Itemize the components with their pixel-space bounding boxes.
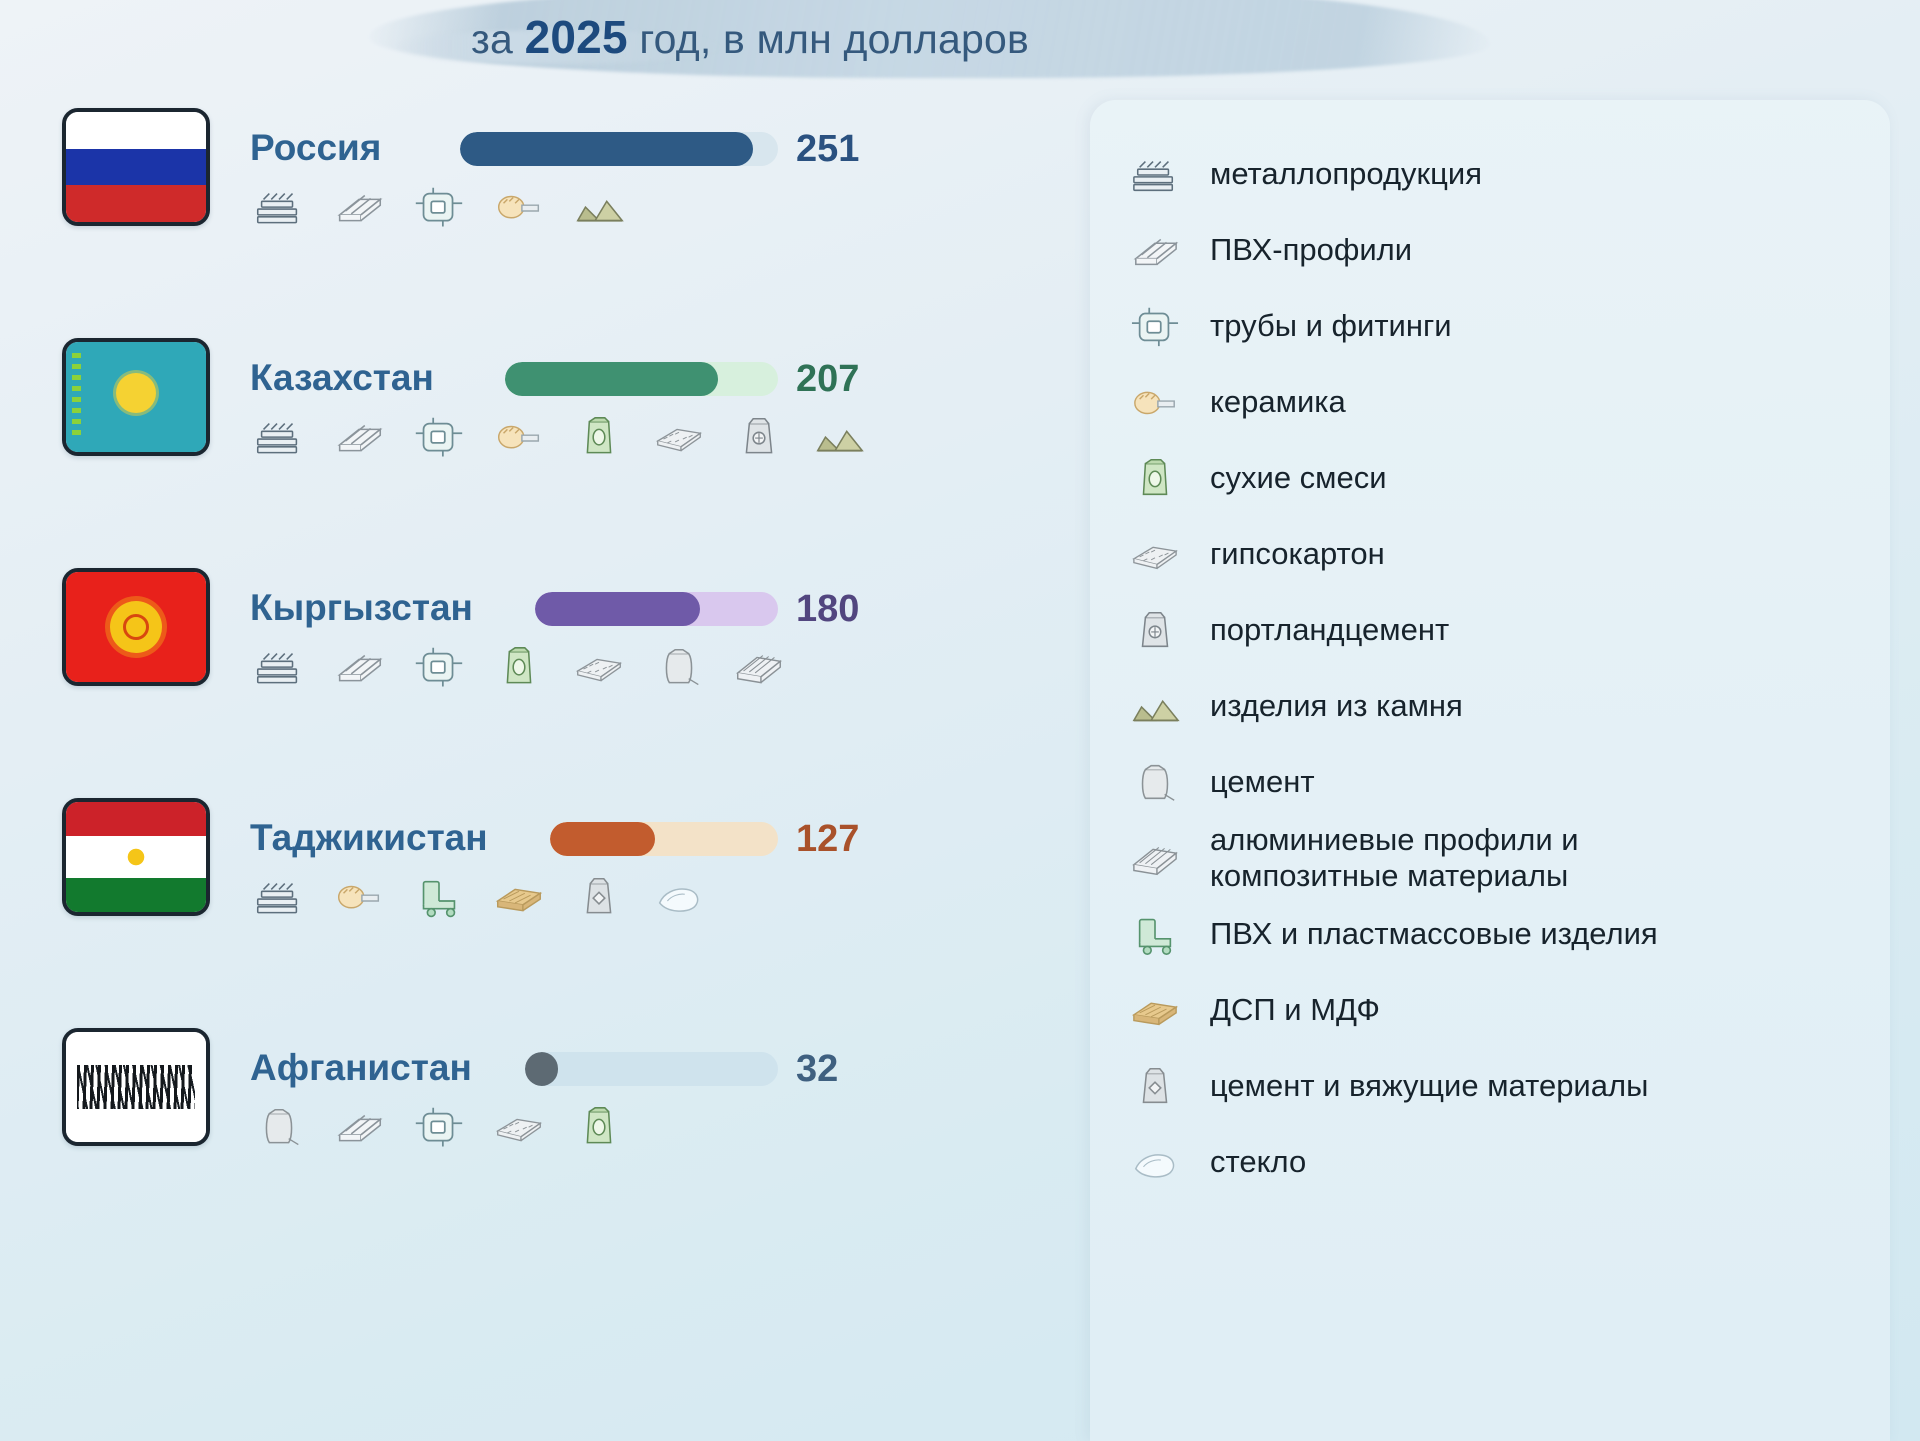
product-icon-strip xyxy=(250,182,628,230)
cement-icon xyxy=(1124,758,1186,806)
bar-fill xyxy=(460,132,753,166)
country-label: Россия xyxy=(250,126,381,170)
legend-item: керамика xyxy=(1124,364,1862,440)
legend-item: цемент и вяжущие материалы xyxy=(1124,1048,1862,1124)
glass-icon xyxy=(1124,1138,1186,1186)
pvc-profile-icon xyxy=(330,642,388,690)
pvc-plastic-icon xyxy=(1124,910,1186,958)
flag-afghanistan xyxy=(62,1028,210,1146)
bar-line: Россия251 xyxy=(250,122,890,178)
legend-item: ДСП и МДФ xyxy=(1124,972,1862,1048)
cement-binders-icon xyxy=(1124,1062,1186,1110)
stone-products-icon xyxy=(810,412,868,460)
country-row: Кыргызстан180 xyxy=(0,560,890,790)
country-label: Таджикистан xyxy=(250,816,488,860)
legend-item: ПВХ-профили xyxy=(1124,212,1862,288)
bar-value: 127 xyxy=(796,812,859,866)
bar-value: 32 xyxy=(796,1042,838,1096)
bar-line: Афганистан32 xyxy=(250,1042,890,1098)
flag-tajikistan xyxy=(62,798,210,916)
bar-fill xyxy=(535,592,700,626)
aluminium-profile-icon xyxy=(1124,834,1186,882)
drywall-icon xyxy=(650,412,708,460)
bar-fill xyxy=(550,822,655,856)
country-row: Таджикистан127 xyxy=(0,790,890,1020)
bar-fill xyxy=(525,1052,558,1086)
cement-binders-icon xyxy=(570,872,628,920)
bar-value: 251 xyxy=(796,122,859,176)
glass-icon xyxy=(650,872,708,920)
drywall-icon xyxy=(570,642,628,690)
product-icon-strip xyxy=(250,412,868,460)
legend-item: сухие смеси xyxy=(1124,440,1862,516)
pvc-plastic-icon xyxy=(410,872,468,920)
pipes-fittings-icon xyxy=(410,182,468,230)
legend-item-label: изделия из камня xyxy=(1210,688,1463,724)
pipes-fittings-icon xyxy=(410,412,468,460)
ceramics-icon xyxy=(490,412,548,460)
legend-item: гипсокартон xyxy=(1124,516,1862,592)
flag-russia xyxy=(62,108,210,226)
legend-item: изделия из камня xyxy=(1124,668,1862,744)
country-label: Кыргызстан xyxy=(250,586,473,630)
dry-mixes-icon xyxy=(570,412,628,460)
flag-kyrgyzstan xyxy=(62,568,210,686)
country-row: Казахстан207 xyxy=(0,330,890,560)
legend-item-label: ДСП и МДФ xyxy=(1210,992,1380,1028)
legend-item: стекло xyxy=(1124,1124,1862,1200)
metal-products-icon xyxy=(250,182,308,230)
bar-track xyxy=(550,822,778,856)
drywall-icon xyxy=(490,1102,548,1150)
bar-fill xyxy=(505,362,718,396)
drywall-icon xyxy=(1124,530,1186,578)
legend-item-label: трубы и фитинги xyxy=(1210,308,1452,344)
ceramics-icon xyxy=(330,872,388,920)
bar-value: 180 xyxy=(796,582,859,636)
country-label: Афганистан xyxy=(250,1046,472,1090)
legend-item-label: гипсокартон xyxy=(1210,536,1385,572)
pipes-fittings-icon xyxy=(410,1102,468,1150)
legend-panel: металлопродукцияПВХ-профилитрубы и фитин… xyxy=(1090,100,1890,1441)
flag-kazakhstan xyxy=(62,338,210,456)
bar-line: Таджикистан127 xyxy=(250,812,890,868)
cement-icon xyxy=(250,1102,308,1150)
chipboard-mdf-icon xyxy=(1124,986,1186,1034)
bar-value: 207 xyxy=(796,352,859,406)
legend-item: ПВХ и пластмассовые изделия xyxy=(1124,896,1862,972)
legend-item-label: цемент xyxy=(1210,764,1315,800)
bar-track xyxy=(460,132,778,166)
bar-track xyxy=(525,1052,778,1086)
legend-item-label: ПВХ и пластмассовые изделия xyxy=(1210,916,1658,952)
bar-line: Кыргызстан180 xyxy=(250,582,890,638)
stone-products-icon xyxy=(570,182,628,230)
legend-item: трубы и фитинги xyxy=(1124,288,1862,364)
legend-item-label: сухие смеси xyxy=(1210,460,1387,496)
ceramics-icon xyxy=(1124,378,1186,426)
country-label: Казахстан xyxy=(250,356,434,400)
aluminium-profile-icon xyxy=(730,642,788,690)
bar-track xyxy=(505,362,778,396)
legend-item: металлопродукция xyxy=(1124,136,1862,212)
legend-item: алюминиевые профили и композитные матери… xyxy=(1124,820,1862,896)
metal-products-icon xyxy=(250,872,308,920)
dry-mixes-icon xyxy=(1124,454,1186,502)
pvc-profile-icon xyxy=(330,412,388,460)
page-title: за 2025 год, в млн долларов xyxy=(0,10,1500,64)
portland-cement-icon xyxy=(1124,606,1186,654)
stone-products-icon xyxy=(1124,682,1186,730)
metal-products-icon xyxy=(250,412,308,460)
bar-line: Казахстан207 xyxy=(250,352,890,408)
pipes-fittings-icon xyxy=(1124,302,1186,350)
legend-item: цемент xyxy=(1124,744,1862,820)
legend-item-label: цемент и вяжущие материалы xyxy=(1210,1068,1648,1104)
country-row: Афганистан32 xyxy=(0,1020,890,1250)
chipboard-mdf-icon xyxy=(490,872,548,920)
dry-mixes-icon xyxy=(570,1102,628,1150)
pipes-fittings-icon xyxy=(410,642,468,690)
legend-item-label: ПВХ-профили xyxy=(1210,232,1412,268)
legend-item-label: портландцемент xyxy=(1210,612,1449,648)
ceramics-icon xyxy=(490,182,548,230)
title-prefix: за xyxy=(471,16,525,62)
dry-mixes-icon xyxy=(490,642,548,690)
product-icon-strip xyxy=(250,1102,628,1150)
metal-products-icon xyxy=(1124,150,1186,198)
pvc-profile-icon xyxy=(1124,226,1186,274)
legend-item-label: алюминиевые профили и композитные матери… xyxy=(1210,822,1579,894)
pvc-profile-icon xyxy=(330,1102,388,1150)
cement-icon xyxy=(650,642,708,690)
legend-item: портландцемент xyxy=(1124,592,1862,668)
legend-item-label: стекло xyxy=(1210,1144,1306,1180)
pvc-profile-icon xyxy=(330,182,388,230)
product-icon-strip xyxy=(250,872,708,920)
metal-products-icon xyxy=(250,642,308,690)
legend-item-label: керамика xyxy=(1210,384,1346,420)
portland-cement-icon xyxy=(730,412,788,460)
country-bar-chart: Россия251Казахстан207Кыргызстан180Таджик… xyxy=(0,100,890,1441)
legend-item-label: металлопродукция xyxy=(1210,156,1482,192)
title-year: 2025 xyxy=(525,11,628,63)
country-row: Россия251 xyxy=(0,100,890,330)
bar-track xyxy=(535,592,778,626)
product-icon-strip xyxy=(250,642,788,690)
title-suffix: год, в млн долларов xyxy=(628,16,1029,62)
